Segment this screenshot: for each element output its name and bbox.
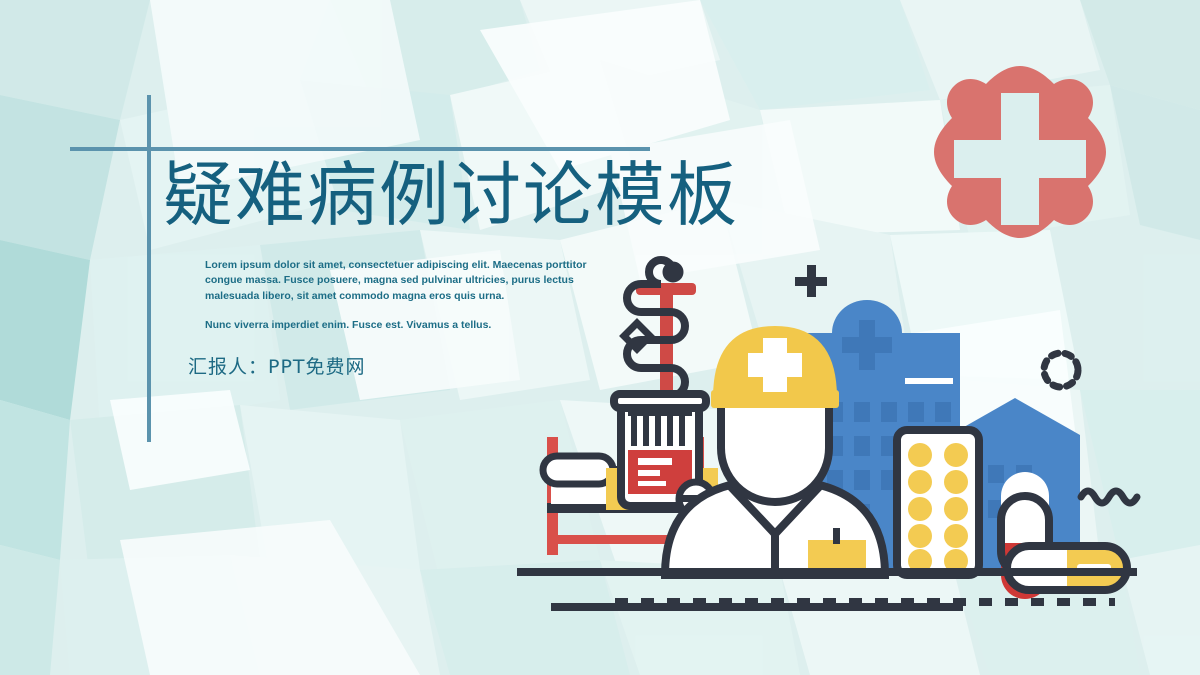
medical-illustration — [495, 250, 1155, 620]
squiggle-decoration-icon — [1081, 491, 1137, 503]
medical-cross-badge-icon — [900, 58, 1140, 273]
page-title: 疑难病例讨论模板 — [163, 160, 739, 230]
baseline-bar — [551, 603, 963, 611]
ground-line — [517, 568, 1137, 576]
presenter-label: 汇报人：PPT免费网 — [188, 352, 366, 379]
horizontal-rule — [70, 147, 650, 151]
slide-canvas: 疑难病例讨论模板 Lorem ipsum dolor sit amet, con… — [0, 0, 1200, 675]
dotted-circle-decoration-icon — [1044, 353, 1078, 387]
pill-blister-pack-icon — [897, 430, 979, 575]
